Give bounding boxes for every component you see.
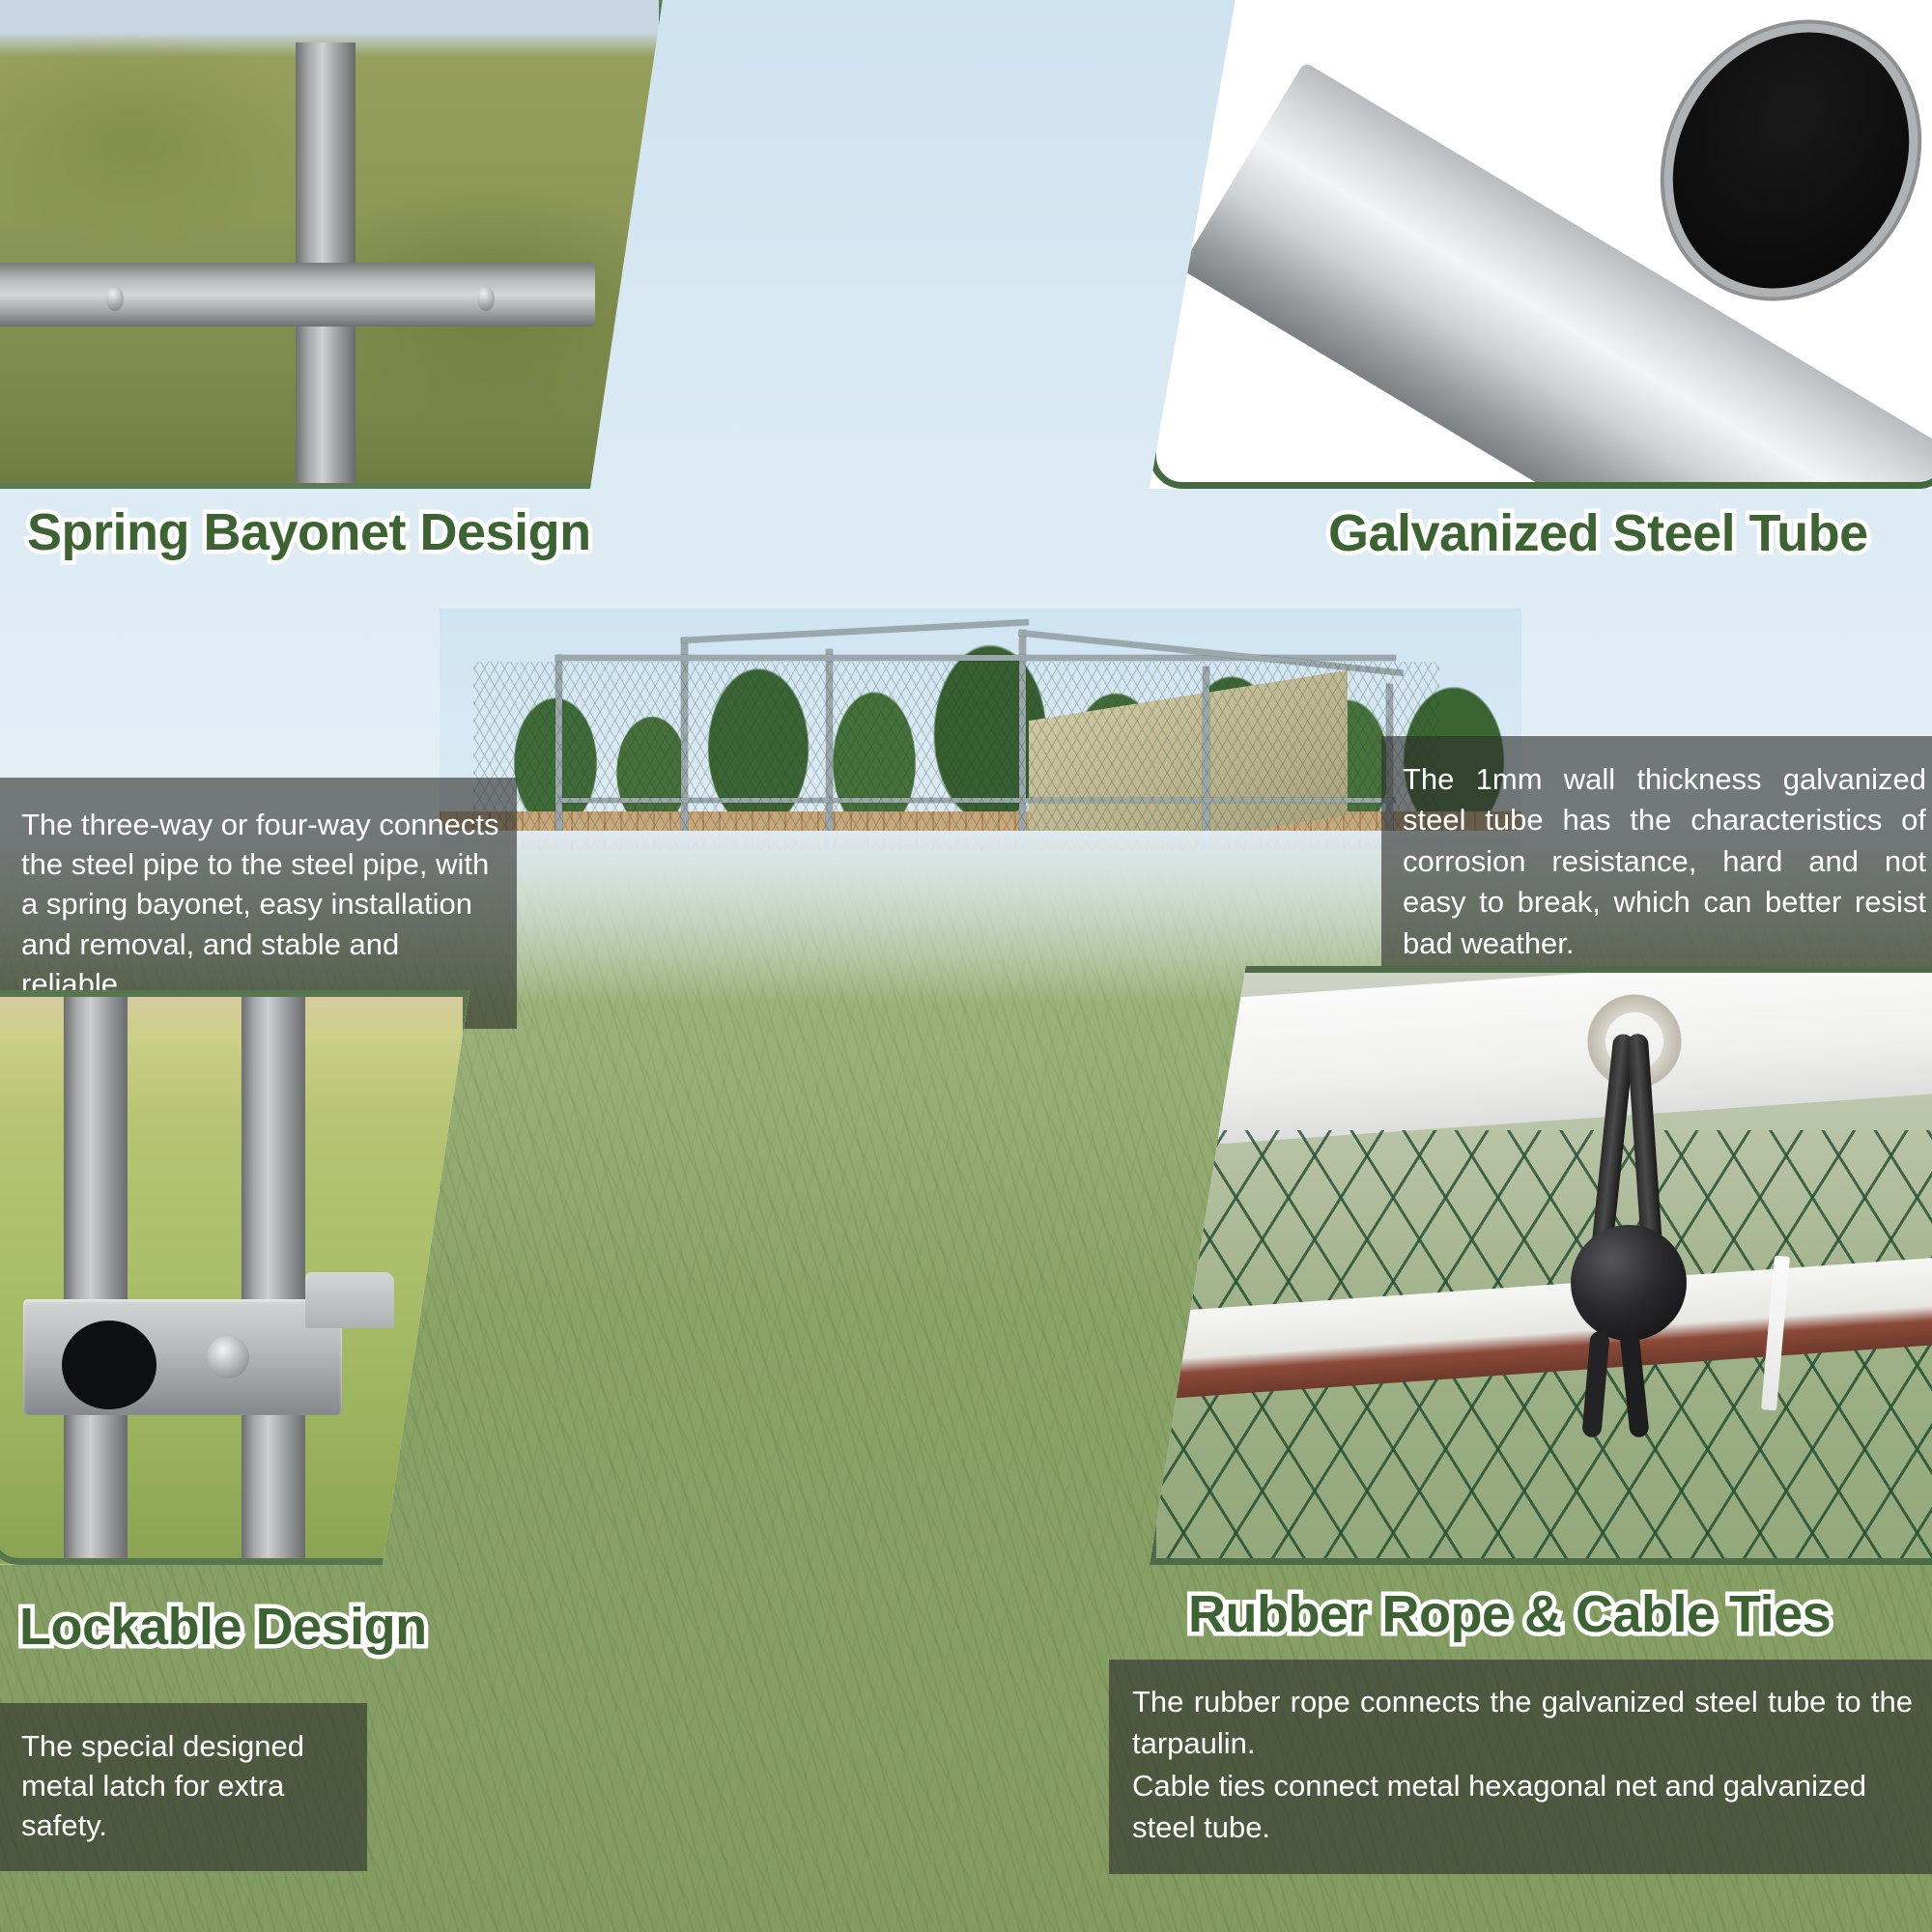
photo-panel-rubber-rope [1150, 966, 1932, 1565]
body-paragraph: The 1mm wall thickness galvanized steel … [1403, 759, 1926, 964]
heading-spring-bayonet: Spring Bayonet Design [27, 502, 591, 562]
heading-galvanized-steel-tube: Galvanized Steel Tube [1328, 503, 1868, 563]
heading-lockable-design: Lockable Design [19, 1597, 427, 1657]
body-paragraph: The rubber rope connects the galvanized … [1132, 1681, 1913, 1765]
body-text-rubber-rope-cable-ties: The rubber rope connects the galvanized … [1109, 1660, 1932, 1874]
photo-panel-spring-bayonet [0, 0, 665, 489]
heading-rubber-rope-cable-ties: Rubber Rope & Cable Ties [1188, 1584, 1831, 1644]
body-text-lockable-design: The special designed metal latch for ext… [0, 1703, 367, 1871]
body-paragraph: The special designed metal latch for ext… [21, 1726, 350, 1846]
body-paragraph: The three-way or four-way connects the s… [21, 805, 499, 1004]
body-paragraph: Cable ties connect metal hexagonal net a… [1132, 1765, 1913, 1849]
photo-panel-galvanized-tube [1150, 0, 1932, 489]
panel-border [0, 0, 665, 489]
infographic-canvas: Spring Bayonet Design The three-way or f… [0, 0, 1932, 1932]
panel-border [1150, 0, 1932, 489]
body-text-galvanized-steel-tube: The 1mm wall thickness galvanized steel … [1381, 736, 1932, 985]
panel-border [1150, 966, 1932, 1565]
